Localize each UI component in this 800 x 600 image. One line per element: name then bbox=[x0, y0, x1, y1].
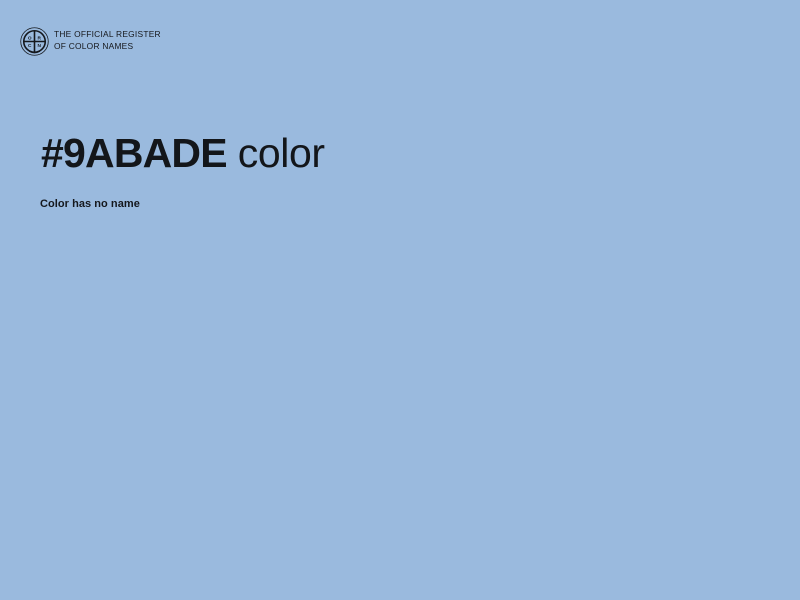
page-title: #9ABADE color bbox=[41, 130, 325, 176]
page-title-suffix: color bbox=[227, 130, 325, 176]
color-name-status: Color has no name bbox=[40, 198, 140, 211]
site-logo-line-1: THE OFFICIAL REGISTER bbox=[54, 29, 161, 41]
color-detail-page: O R C N THE OFFICIAL REGISTER OF COLOR N… bbox=[0, 0, 800, 600]
official-register-seal-icon: O R C N bbox=[20, 27, 49, 56]
site-logo-wordmark: THE OFFICIAL REGISTER OF COLOR NAMES bbox=[54, 27, 161, 52]
site-logo[interactable]: O R C N THE OFFICIAL REGISTER OF COLOR N… bbox=[20, 27, 161, 56]
site-logo-line-2: OF COLOR NAMES bbox=[54, 41, 161, 53]
svg-text:N: N bbox=[38, 43, 42, 49]
svg-text:O: O bbox=[28, 35, 32, 41]
page-title-hex: #9ABADE bbox=[41, 130, 227, 176]
svg-text:R: R bbox=[38, 35, 42, 41]
svg-text:C: C bbox=[28, 43, 32, 49]
